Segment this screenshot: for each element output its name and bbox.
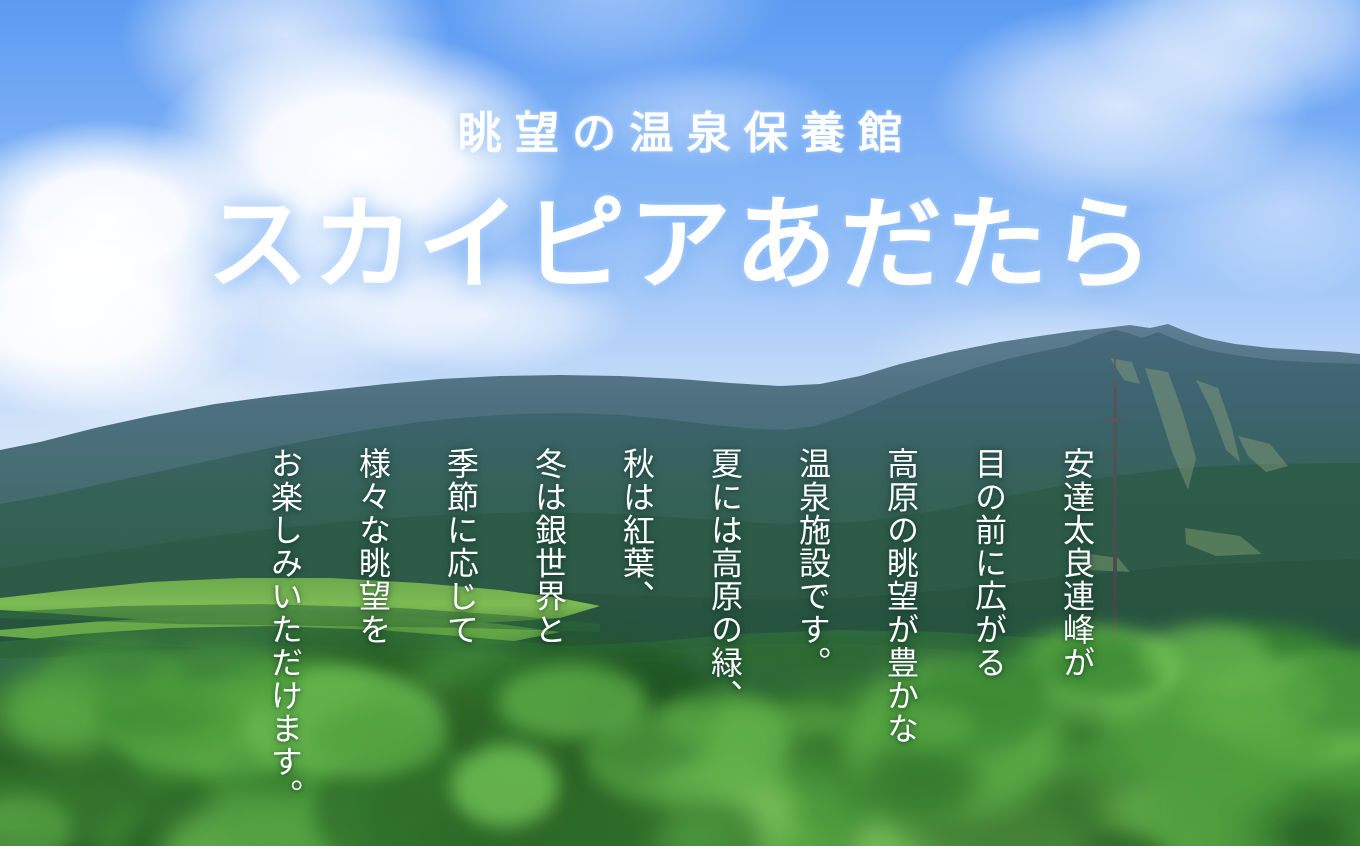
tree-crown (888, 704, 974, 747)
foliage-blob (878, 810, 936, 841)
foliage-blob (775, 692, 876, 744)
foliage-blob (1008, 685, 1179, 785)
hero-subtitle: 眺望の温泉保養館 (0, 112, 1360, 156)
foliage-blob (286, 764, 428, 833)
foliage-blob (1269, 670, 1360, 730)
description-column-7: 冬は銀世界と (526, 447, 570, 646)
foliage-blob (871, 737, 929, 776)
foliage-blob (492, 698, 651, 772)
foliage-blob (275, 640, 456, 732)
foliage-blob (1103, 817, 1339, 846)
foliage-blob (1045, 830, 1185, 846)
tree-crown (1179, 660, 1330, 735)
foliage-blob (87, 704, 217, 771)
foliage-blob (220, 738, 379, 819)
foliage-blob (418, 657, 525, 738)
foliage-blob (108, 837, 201, 846)
foliage-blob (903, 790, 1031, 846)
foliage-blob (409, 685, 474, 738)
foliage-blob (569, 771, 666, 846)
foliage-blob (958, 811, 1045, 846)
description-column-9: 様々な眺望を (350, 447, 394, 646)
tree-crown (1174, 687, 1275, 738)
tree-crown (584, 705, 787, 807)
tree-crown (1033, 627, 1178, 700)
foliage-blob (771, 704, 848, 737)
foliage-blob (1122, 837, 1283, 846)
foliage-blob (847, 718, 1025, 794)
foliage-blob (291, 685, 344, 727)
foliage-blob (1288, 804, 1360, 846)
tree-crown (1122, 689, 1333, 794)
foliage-blob (841, 663, 1063, 817)
foliage-blob (848, 793, 1088, 846)
foliage-blob (39, 735, 162, 810)
foliage-blob (0, 794, 72, 846)
foliage-blob (862, 740, 979, 822)
foliage-blob (431, 765, 659, 846)
tree-crown (662, 689, 786, 751)
foliage-blob (0, 691, 32, 734)
foliage-blob (723, 716, 804, 773)
foliage-blob (777, 739, 954, 846)
antenna-mast-icon (1113, 382, 1117, 690)
foliage-blob (1220, 737, 1360, 846)
foliage-blob (1243, 777, 1360, 846)
meadow-band (0, 520, 1360, 730)
foliage-blob (0, 694, 17, 734)
foliage-blob (881, 762, 943, 806)
description-column-2: 目の前に広がる (966, 447, 1010, 679)
foliage-blob (429, 650, 661, 802)
hero-title: スカイピアあだたら (0, 192, 1360, 299)
foliage-blob (1259, 689, 1360, 819)
tree-crown (257, 672, 433, 760)
tree-crown (93, 674, 219, 737)
foliage-blob (0, 703, 77, 762)
foliage-blob (1150, 813, 1360, 846)
foliage-blob (362, 666, 435, 728)
foliage-blob (405, 825, 498, 846)
foliage-blob (417, 787, 568, 846)
foliage-blob (399, 658, 529, 713)
foliage-blob (788, 834, 871, 846)
foliage-blob (627, 752, 766, 840)
foliage-blob (869, 839, 925, 846)
foliage-blob (287, 674, 376, 729)
foliage-blob (734, 713, 825, 767)
tree-crown (885, 679, 1040, 757)
foliage-blob (510, 748, 608, 809)
foliage-blob (892, 668, 947, 704)
foliage-blob (481, 747, 546, 789)
description-column-6: 秋は紅葉、 (614, 447, 658, 613)
description-column-3: 高原の眺望が豊かな (878, 447, 922, 745)
foliage-blob (122, 692, 308, 777)
foliage-blob (88, 792, 185, 846)
foliage-blob (993, 668, 1108, 754)
foliage-blob (1252, 804, 1360, 846)
foliage-blob (932, 779, 1077, 846)
foliage-blob (297, 725, 471, 846)
foliage-blob (0, 769, 136, 846)
foliage-blob (1027, 665, 1255, 832)
foliage-blob (0, 723, 149, 827)
foliage-blob (688, 643, 903, 777)
foliage-blob (0, 673, 203, 846)
foliage-blob (1041, 780, 1162, 846)
foliage-blob (1279, 811, 1360, 846)
foliage-blob (142, 734, 236, 805)
foliage-blob (429, 784, 520, 836)
tree-crown (1279, 654, 1360, 735)
foliage-blob (159, 796, 372, 846)
foliage-blob (451, 746, 558, 827)
foliage-blob (525, 840, 608, 846)
foliage-blob (459, 656, 644, 754)
foliage-blob (527, 642, 616, 705)
foliage-blob (1289, 820, 1341, 846)
foliage-blob (183, 810, 316, 846)
foliage-blob (1282, 720, 1360, 817)
foliage-blob (195, 657, 423, 825)
foliage-blob (377, 697, 482, 746)
foliage-blob (212, 730, 381, 846)
foliage-blob (79, 809, 306, 846)
foliage-blob (1282, 802, 1360, 846)
foliage-blob (196, 671, 366, 753)
foliage-blob (1033, 656, 1118, 730)
foliage-blob (576, 653, 718, 769)
tree-crown (313, 706, 443, 771)
foliage-blob (1140, 762, 1339, 846)
tree-crown (1148, 625, 1360, 732)
antenna-crossarm-lower-icon (1106, 452, 1122, 455)
foliage-blob (904, 766, 1123, 846)
foliage-blob (662, 820, 734, 846)
tree-crown (46, 640, 182, 708)
foliage-blob (581, 661, 713, 750)
foliage-blob (743, 819, 931, 846)
foliage-blob (1095, 792, 1206, 846)
foliage-blob (837, 840, 986, 846)
tree-crown (1251, 692, 1360, 790)
foliage-blob (780, 685, 1012, 795)
description-column-4: 温泉施設です。 (790, 447, 834, 679)
foliage-blob (0, 769, 91, 829)
tree-crown (1140, 624, 1270, 689)
foliage-blob (1143, 682, 1216, 719)
foreground-foliage (0, 600, 1360, 846)
tree-crown (241, 674, 446, 776)
tree-crown (1064, 643, 1177, 700)
foliage-blob (442, 800, 596, 846)
foliage-blob (125, 804, 263, 846)
foliage-blob (1208, 729, 1360, 846)
foliage-blob (1114, 730, 1214, 773)
tree-crown (150, 643, 295, 716)
foliage-blob (1114, 670, 1254, 731)
foliage-blob (111, 683, 210, 767)
foliage-blob (130, 733, 234, 785)
foliage-blob (750, 715, 806, 763)
foliage-blob (0, 669, 120, 756)
foliage-blob (758, 826, 836, 846)
foliage-blob (886, 768, 980, 820)
tree-crown (1206, 658, 1360, 765)
foliage-blob (810, 742, 895, 792)
description-column-1: 安達太良連峰が (1054, 447, 1098, 679)
foliage-blob (367, 760, 517, 846)
foliage-blob (1301, 661, 1360, 753)
antenna-crossarm-icon (1103, 418, 1125, 421)
foliage-blob (1311, 715, 1360, 831)
foliage-blob (554, 783, 763, 846)
foliage-blob (372, 819, 538, 846)
description-column-8: 季節に応じて (438, 447, 482, 646)
foliage-blob (1115, 648, 1207, 694)
foliage-blob (911, 784, 1097, 846)
foliage-blob (602, 709, 809, 846)
tree-crown (915, 657, 1064, 731)
foliage-blob (1222, 739, 1299, 786)
description-column-10: お楽しみいただけます。 (262, 447, 306, 811)
foliage-blob (313, 741, 492, 846)
foliage-blob (1176, 678, 1239, 726)
foliage-blob (672, 720, 768, 798)
foliage-blob (579, 736, 655, 769)
foliage-blob (448, 734, 687, 846)
foliage-blob (999, 815, 1128, 846)
foliage-blob (131, 691, 216, 749)
tree-crown (97, 684, 244, 757)
foliage-blob (967, 715, 1205, 846)
foliage-blob (192, 766, 315, 846)
hero-banner: 眺望の温泉保養館 スカイピアあだたら 安達太良連峰が目の前に広がる高原の眺望が豊… (0, 0, 1360, 846)
foliage-blob (127, 700, 309, 846)
tree-crown (1045, 637, 1168, 698)
foliage-blob (153, 684, 327, 772)
foliage-blob (874, 766, 1007, 846)
foliage-blob (352, 754, 520, 846)
foliage-blob (605, 768, 773, 839)
foliage-blob (1032, 723, 1162, 779)
description-column-5: 夏には高原の緑、 (702, 447, 746, 712)
foliage-blob (946, 827, 1068, 846)
foliage-blob (492, 700, 722, 803)
foliage-blob (312, 677, 444, 784)
foliage-blob (627, 722, 848, 846)
foliage-blob (325, 790, 375, 822)
foliage-blob (338, 682, 496, 757)
foliage-blob (208, 679, 332, 775)
foliage-blob (1082, 786, 1229, 846)
foliage-blob (1162, 706, 1240, 757)
mid-forest-band (0, 600, 1360, 780)
foliage-blob (1315, 648, 1360, 762)
foliage-blob (631, 761, 796, 846)
antenna-mast-tip-icon (1114, 352, 1116, 386)
foliage-blob (358, 653, 503, 747)
foliage-blob (691, 705, 791, 771)
tree-crown (498, 665, 646, 739)
foliage-blob (326, 749, 424, 825)
